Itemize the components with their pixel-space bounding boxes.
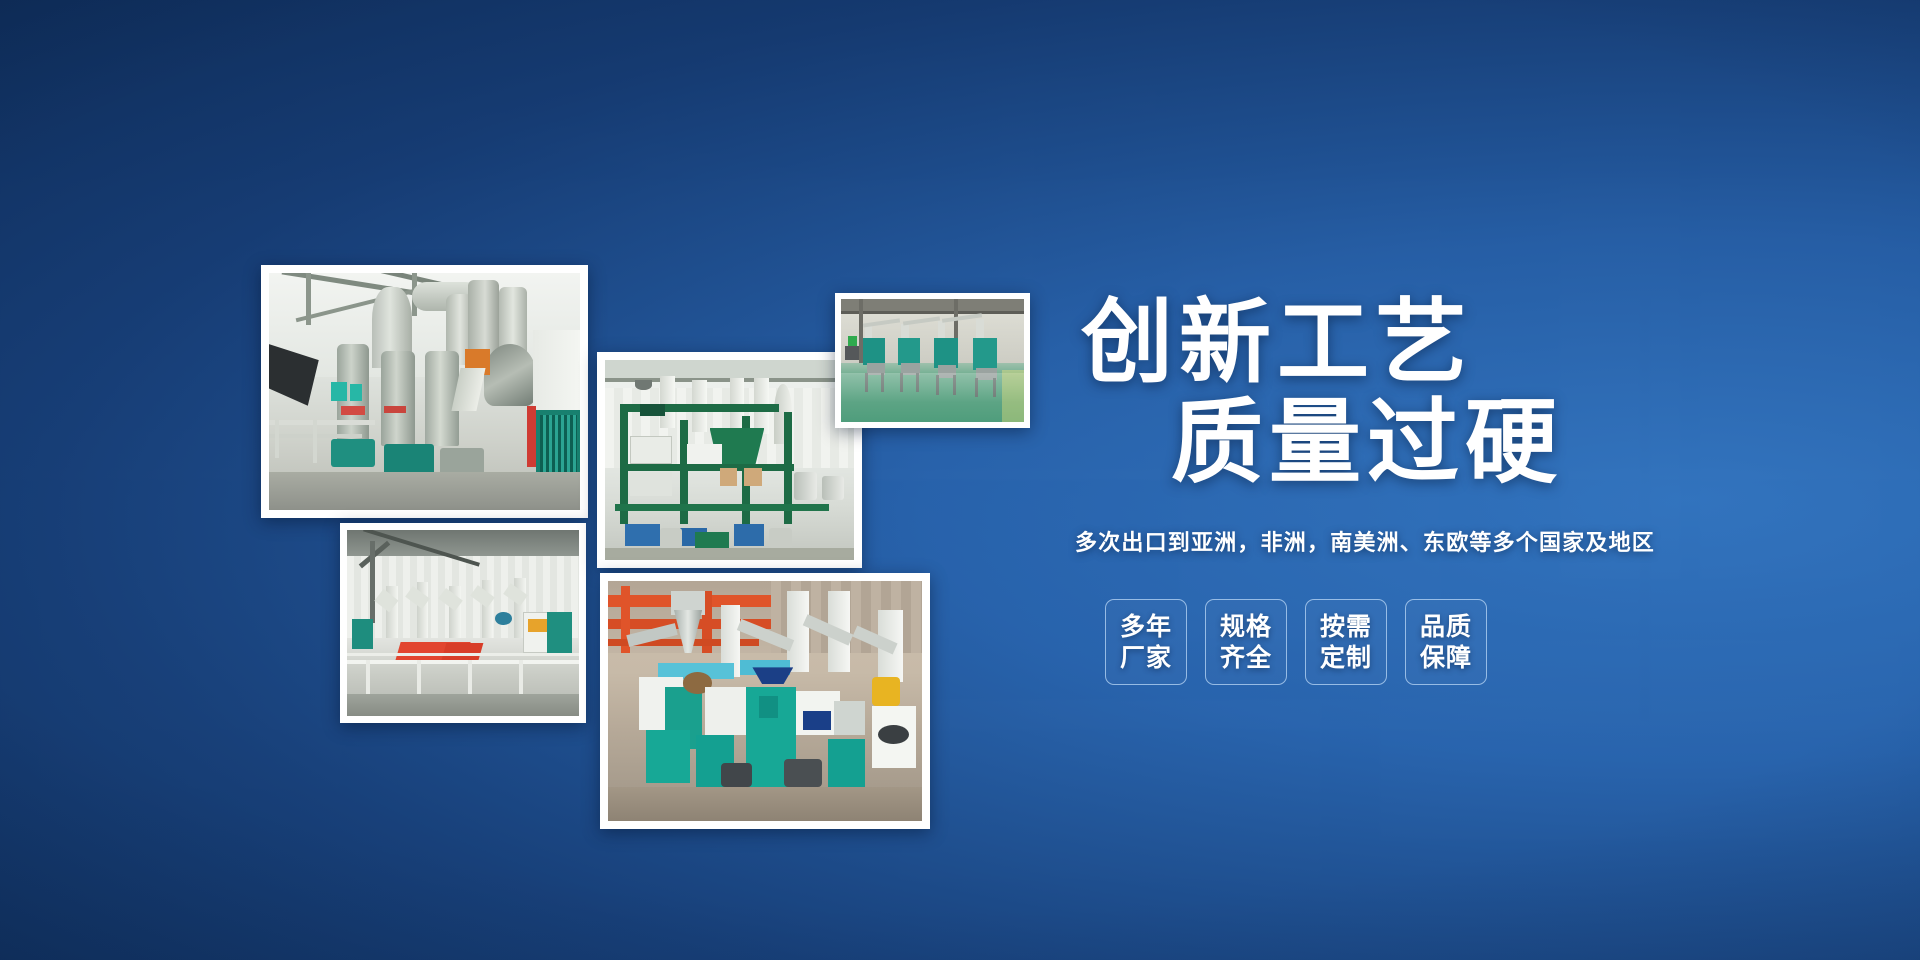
badge-line-1: 按需 — [1320, 611, 1372, 642]
feature-badge-custom[interactable]: 按需 定制 — [1305, 599, 1387, 685]
headline-line-2: 质量过硬 — [1075, 391, 1635, 495]
badge-line-2: 定制 — [1320, 642, 1372, 673]
badge-line-1: 规格 — [1220, 611, 1272, 642]
subtitle: 多次出口到亚洲，非洲，南美洲、东欧等多个国家及地区 — [1075, 525, 1635, 557]
photo-flour-mill-green — [597, 352, 862, 568]
feature-badge-specs[interactable]: 规格 齐全 — [1205, 599, 1287, 685]
badge-line-2: 厂家 — [1120, 642, 1172, 673]
headline-line-1: 创新工艺 — [1075, 295, 1635, 391]
photo-mill-workshop-teal — [600, 573, 930, 829]
feature-badge-years[interactable]: 多年 厂家 — [1105, 599, 1187, 685]
promo-banner: 创新工艺 质量过硬 多次出口到亚洲，非洲，南美洲、东欧等多个国家及地区 多年 厂… — [0, 0, 1920, 960]
photo-rice-mill-line-white — [340, 523, 586, 723]
badge-line-1: 品质 — [1420, 611, 1472, 642]
badge-line-2: 齐全 — [1220, 642, 1272, 673]
feature-badge-quality[interactable]: 品质 保障 — [1405, 599, 1487, 685]
hero-copy: 创新工艺 质量过硬 多次出口到亚洲，非洲，南美洲、东欧等多个国家及地区 多年 厂… — [1075, 295, 1635, 685]
badge-line-2: 保障 — [1420, 642, 1472, 673]
photo-milling-plant-grey — [261, 265, 588, 518]
photo-mill-units-teal — [835, 293, 1030, 428]
feature-badge-list: 多年 厂家 规格 齐全 按需 定制 品质 保障 — [1075, 599, 1635, 685]
badge-line-1: 多年 — [1120, 611, 1172, 642]
